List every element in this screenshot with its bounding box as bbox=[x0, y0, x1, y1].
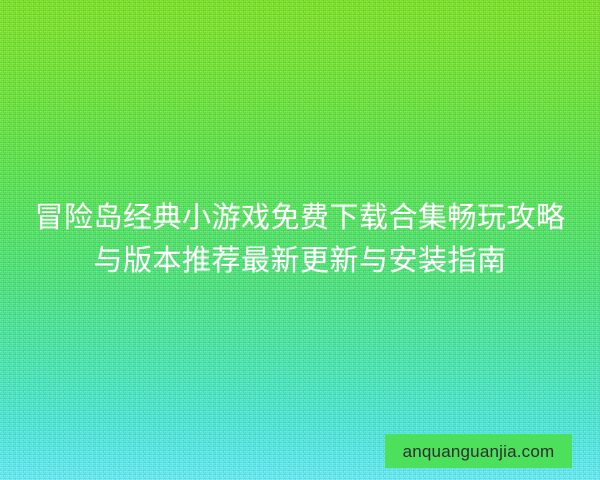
promo-banner: 冒险岛经典小游戏免费下载合集畅玩攻略 与版本推荐最新更新与安装指南 anquan… bbox=[0, 0, 600, 480]
watermark-site-label: anquanguanjia.com bbox=[403, 443, 555, 460]
banner-title-line-1: 冒险岛经典小游戏免费下载合集畅玩攻略 bbox=[18, 196, 582, 239]
banner-title-line-2: 与版本推荐最新更新与安装指南 bbox=[18, 239, 582, 282]
watermark-badge: anquanguanjia.com bbox=[385, 434, 572, 468]
banner-title: 冒险岛经典小游戏免费下载合集畅玩攻略 与版本推荐最新更新与安装指南 bbox=[0, 196, 600, 282]
